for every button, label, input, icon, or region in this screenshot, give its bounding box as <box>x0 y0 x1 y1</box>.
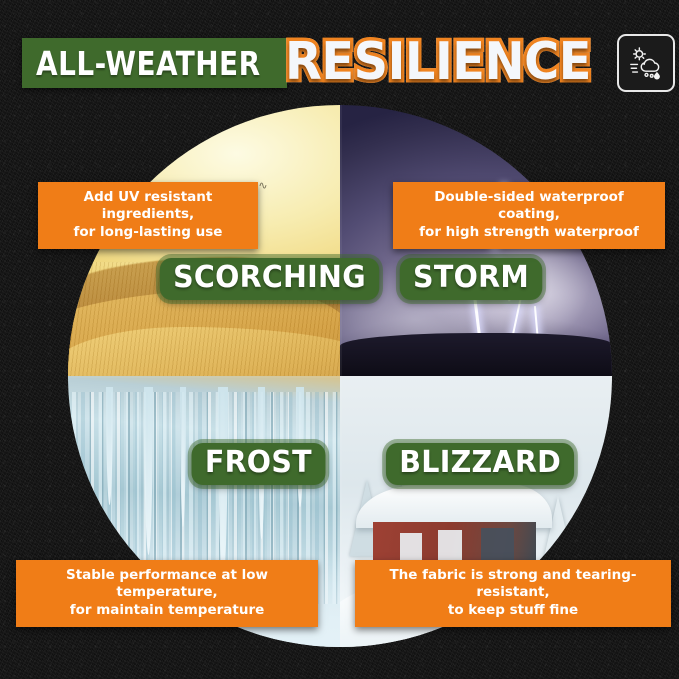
caption-line: Stable performance at low temperature, <box>28 567 306 602</box>
cabin-roof <box>356 484 552 527</box>
zone-label-scorching: SCORCHING <box>160 258 379 300</box>
zone-label-frost: FROST <box>192 443 326 485</box>
caption-line: The fabric is strong and tearing-resista… <box>367 567 659 602</box>
infographic-canvas: ALL-WEATHER RESILIENCE <box>0 0 679 679</box>
quadrant-seam-horizontal <box>68 376 612 378</box>
caption-line: for high strength waterproof <box>405 224 653 241</box>
page-title-primary: ALL-WEATHER <box>36 44 261 83</box>
title-primary-badge: ALL-WEATHER <box>22 38 287 88</box>
caption-line: Add UV resistant ingredients, <box>50 189 246 224</box>
page-title-accent: RESILIENCE <box>285 38 591 87</box>
caption-line: for long-lasting use <box>50 224 246 241</box>
caption-blizzard: The fabric is strong and tearing-resista… <box>355 560 671 627</box>
weather-badge <box>617 34 675 92</box>
caption-line: to keep stuff fine <box>367 602 659 619</box>
caption-line: Double-sided waterproof coating, <box>405 189 653 224</box>
zone-label-storm: STORM <box>400 258 543 300</box>
header-bar: ALL-WEATHER RESILIENCE <box>22 32 663 94</box>
zone-label-blizzard: BLIZZARD <box>386 443 574 485</box>
caption-storm: Double-sided waterproof coating, for hig… <box>393 182 665 249</box>
storm-horizon <box>340 333 612 376</box>
sun-cloud-wind-rain-snow-icon <box>627 44 665 82</box>
caption-frost: Stable performance at low temperature, f… <box>16 560 318 627</box>
bird-icon: ∿ <box>258 181 274 188</box>
caption-line: for maintain temperature <box>28 602 306 619</box>
caption-scorching: Add UV resistant ingredients, for long-l… <box>38 182 258 249</box>
